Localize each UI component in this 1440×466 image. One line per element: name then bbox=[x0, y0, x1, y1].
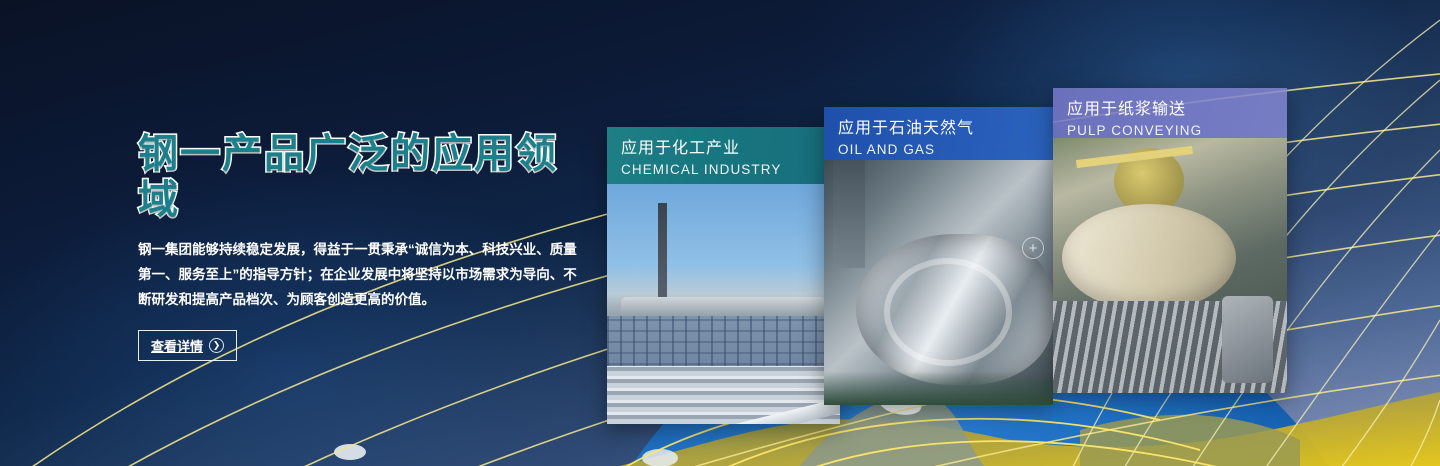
page-title: 钢一产品广泛的应用领域 bbox=[138, 131, 588, 223]
card-title-cn: 应用于石油天然气 bbox=[838, 118, 1039, 139]
card-header: 应用于纸浆输送 PULP CONVEYING bbox=[1053, 88, 1287, 138]
card-header: 应用于石油天然气 OIL AND GAS bbox=[824, 107, 1053, 160]
card-title-cn: 应用于纸浆输送 bbox=[1067, 99, 1273, 120]
card-image-chemical-plant bbox=[607, 184, 840, 424]
view-details-button[interactable]: 查看详情 ❯ bbox=[138, 330, 237, 361]
hero-paragraph: 钢一集团能够持续稳定发展，得益于一贯秉承“诚信为本、科技兴业、质量第一、服务至上… bbox=[138, 237, 578, 312]
application-card-pulp-conveying[interactable]: 应用于纸浆输送 PULP CONVEYING bbox=[1053, 88, 1287, 393]
card-title-en: OIL AND GAS bbox=[838, 140, 1039, 159]
plus-icon[interactable]: + bbox=[1022, 237, 1044, 259]
card-image-oil-gas-equipment bbox=[824, 160, 1053, 405]
view-details-label: 查看详情 bbox=[151, 336, 203, 355]
chevron-right-circle-icon: ❯ bbox=[209, 338, 224, 353]
application-card-oil-and-gas[interactable]: 应用于石油天然气 OIL AND GAS bbox=[824, 107, 1053, 405]
card-title-cn: 应用于化工产业 bbox=[621, 138, 826, 159]
card-header: 应用于化工产业 CHEMICAL INDUSTRY bbox=[607, 127, 840, 184]
application-card-chemical-industry[interactable]: 应用于化工产业 CHEMICAL INDUSTRY bbox=[607, 127, 840, 424]
hero-banner: 钢一产品广泛的应用领域 钢一集团能够持续稳定发展，得益于一贯秉承“诚信为本、科技… bbox=[0, 0, 1440, 466]
hero-copy: 钢一产品广泛的应用领域 钢一集团能够持续稳定发展，得益于一贯秉承“诚信为本、科技… bbox=[138, 131, 588, 361]
card-image-pulp-machine bbox=[1053, 138, 1287, 393]
card-title-en: CHEMICAL INDUSTRY bbox=[621, 160, 826, 179]
